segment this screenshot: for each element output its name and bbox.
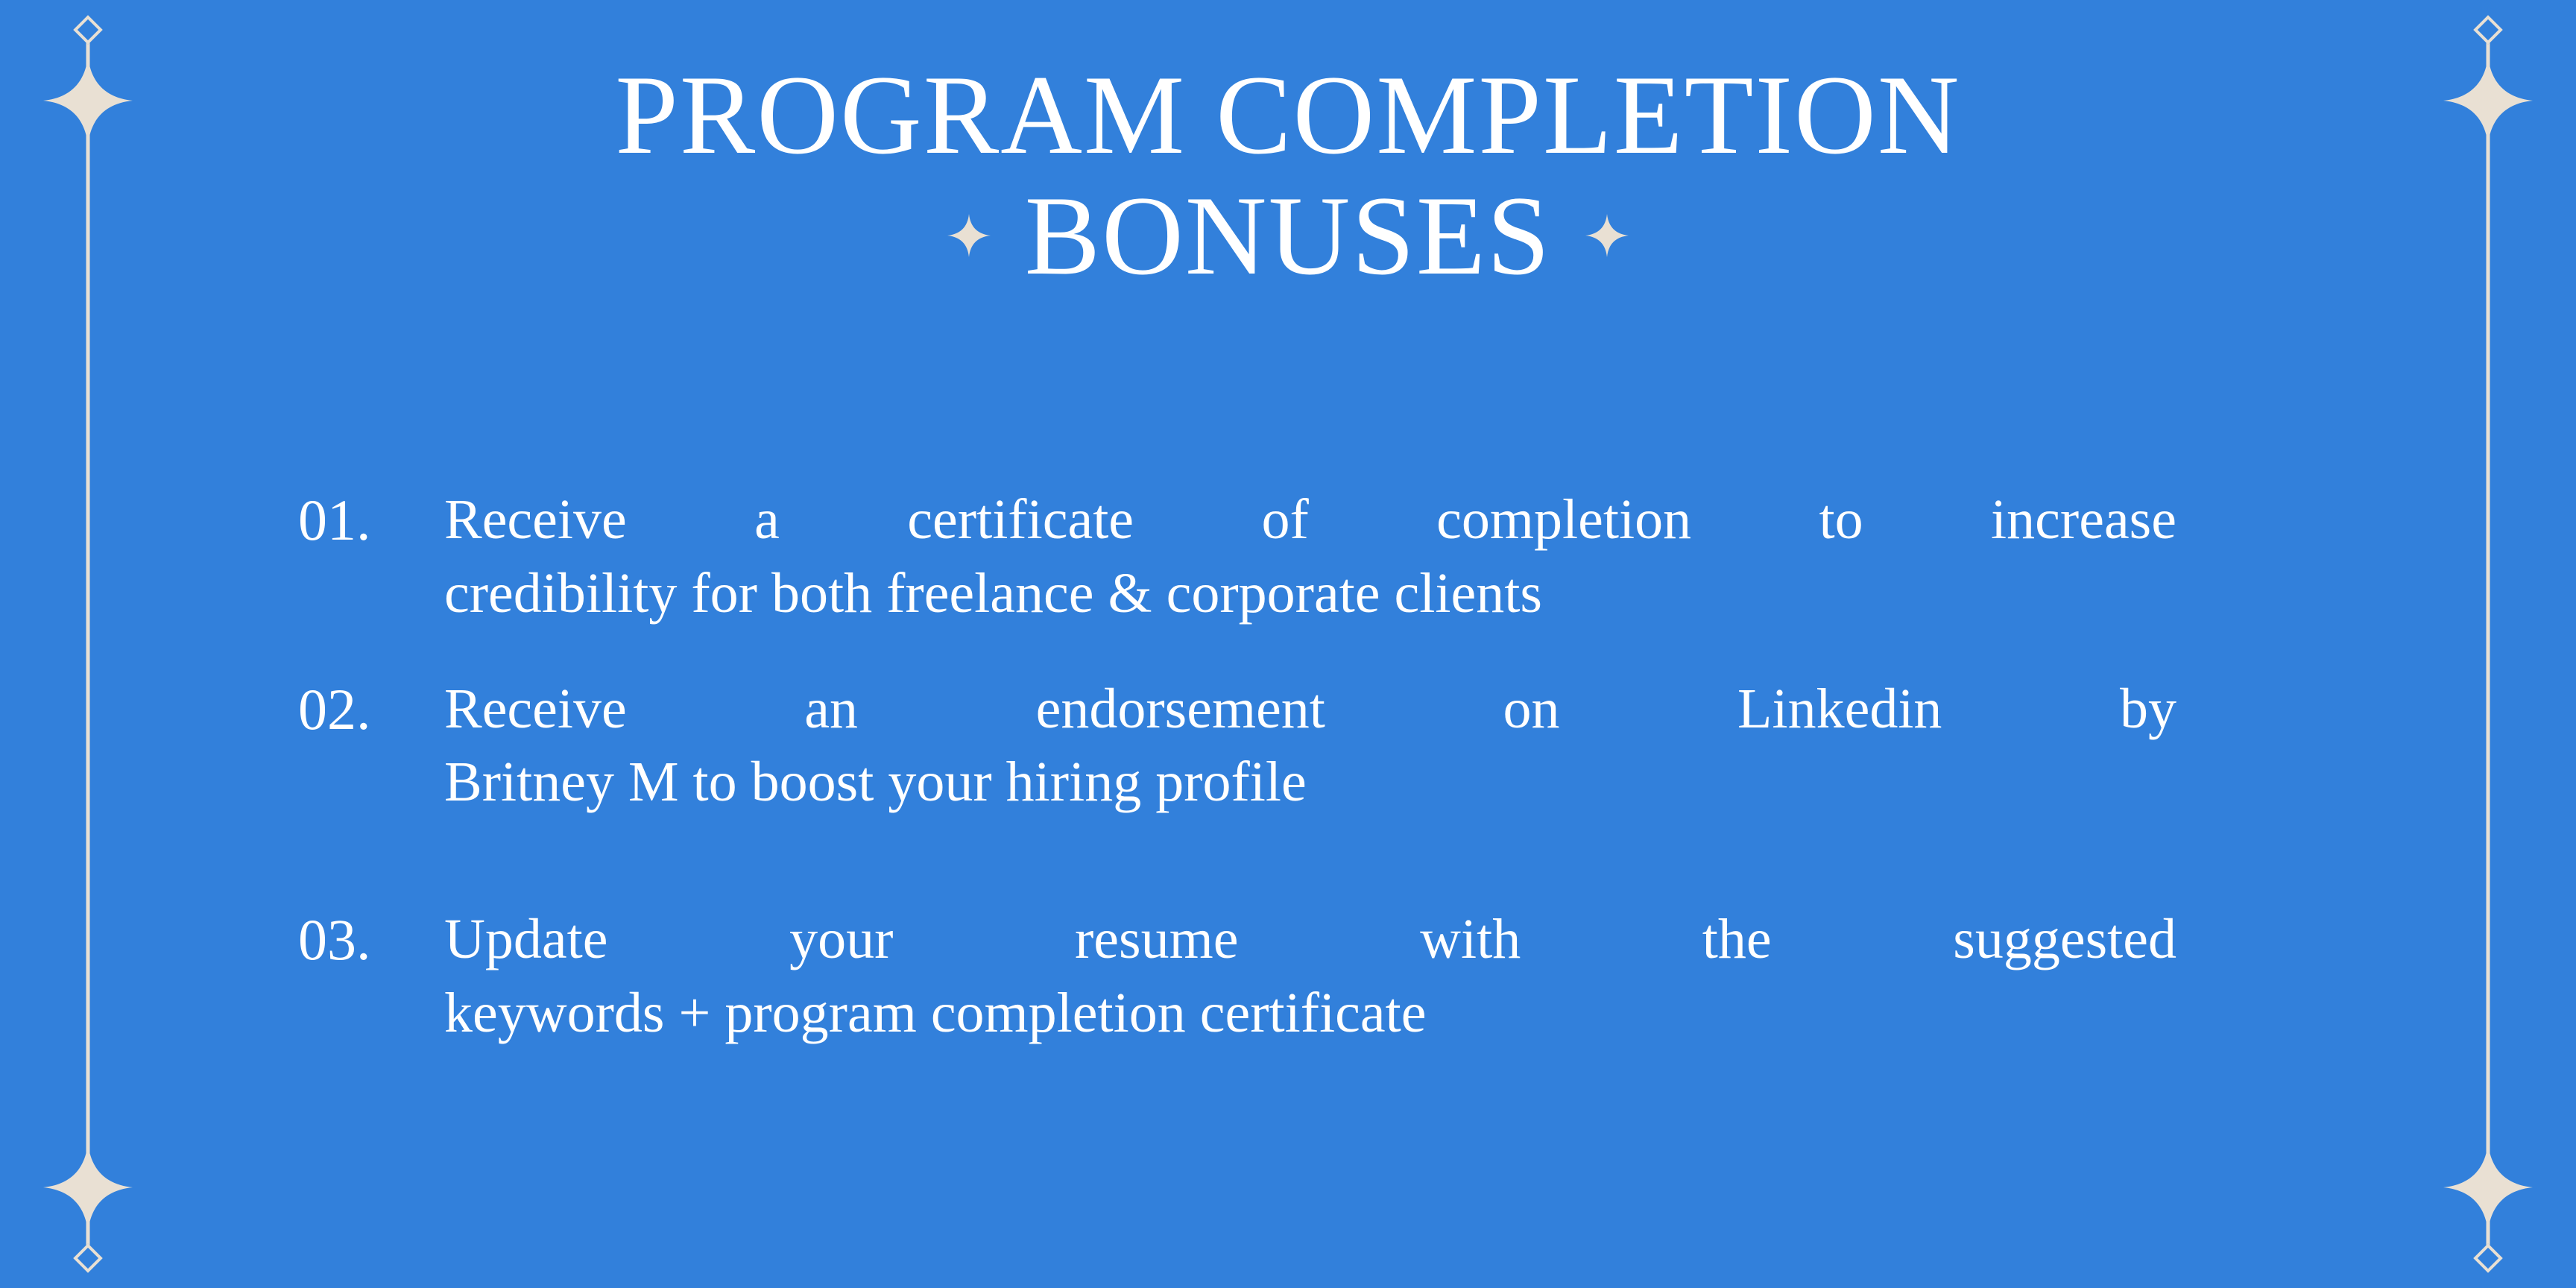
list-item: 03. Update your resume with the suggeste… bbox=[298, 903, 2176, 1050]
list-item-line: Receive an endorsement on Linkedin by bbox=[444, 672, 2176, 746]
list-item-number: 01. bbox=[298, 483, 444, 558]
left-rail-bottom-diamond-icon bbox=[73, 1243, 103, 1273]
title-line-one: PROGRAM COMPLETION bbox=[0, 58, 2576, 171]
page-title: PROGRAM COMPLETION BONUSES bbox=[0, 58, 2576, 292]
list-item-line: credibility for both freelance & corpora… bbox=[444, 557, 2176, 631]
right-rail-top-diamond-icon bbox=[2473, 15, 2503, 45]
list-item-number: 03. bbox=[298, 903, 444, 977]
list-item-line: Britney M to boost your hiring profile bbox=[444, 745, 2176, 819]
title-line-two-row: BONUSES bbox=[0, 179, 2576, 292]
title-line-two: BONUSES bbox=[1025, 179, 1552, 292]
list-item-text: Receive a certificate of completion to i… bbox=[444, 483, 2176, 631]
right-rail-bottom-sparkle-icon bbox=[2443, 1143, 2533, 1232]
right-rail-bottom-diamond-icon bbox=[2473, 1243, 2503, 1273]
list-item: 01. Receive a certificate of completion … bbox=[298, 483, 2176, 631]
list-item-number: 02. bbox=[298, 672, 444, 747]
bonus-list: 01. Receive a certificate of completion … bbox=[298, 483, 2176, 1050]
left-rail-top-diamond-icon bbox=[73, 15, 103, 45]
list-item-line: keywords + program completion certificat… bbox=[444, 976, 2176, 1050]
list-item: 02. Receive an endorsement on Linkedin b… bbox=[298, 672, 2176, 820]
slide-canvas: PROGRAM COMPLETION BONUSES 01. Receive a… bbox=[0, 0, 2576, 1288]
title-left-sparkle-icon bbox=[947, 214, 991, 257]
list-item-text: Receive an endorsement on Linkedin by Br… bbox=[444, 672, 2176, 820]
list-item-line: Receive a certificate of completion to i… bbox=[444, 483, 2176, 557]
list-item-text: Update your resume with the suggested ke… bbox=[444, 903, 2176, 1050]
title-right-sparkle-icon bbox=[1585, 214, 1629, 257]
list-item-line: Update your resume with the suggested bbox=[444, 903, 2176, 976]
left-rail-bottom-sparkle-icon bbox=[43, 1143, 133, 1232]
